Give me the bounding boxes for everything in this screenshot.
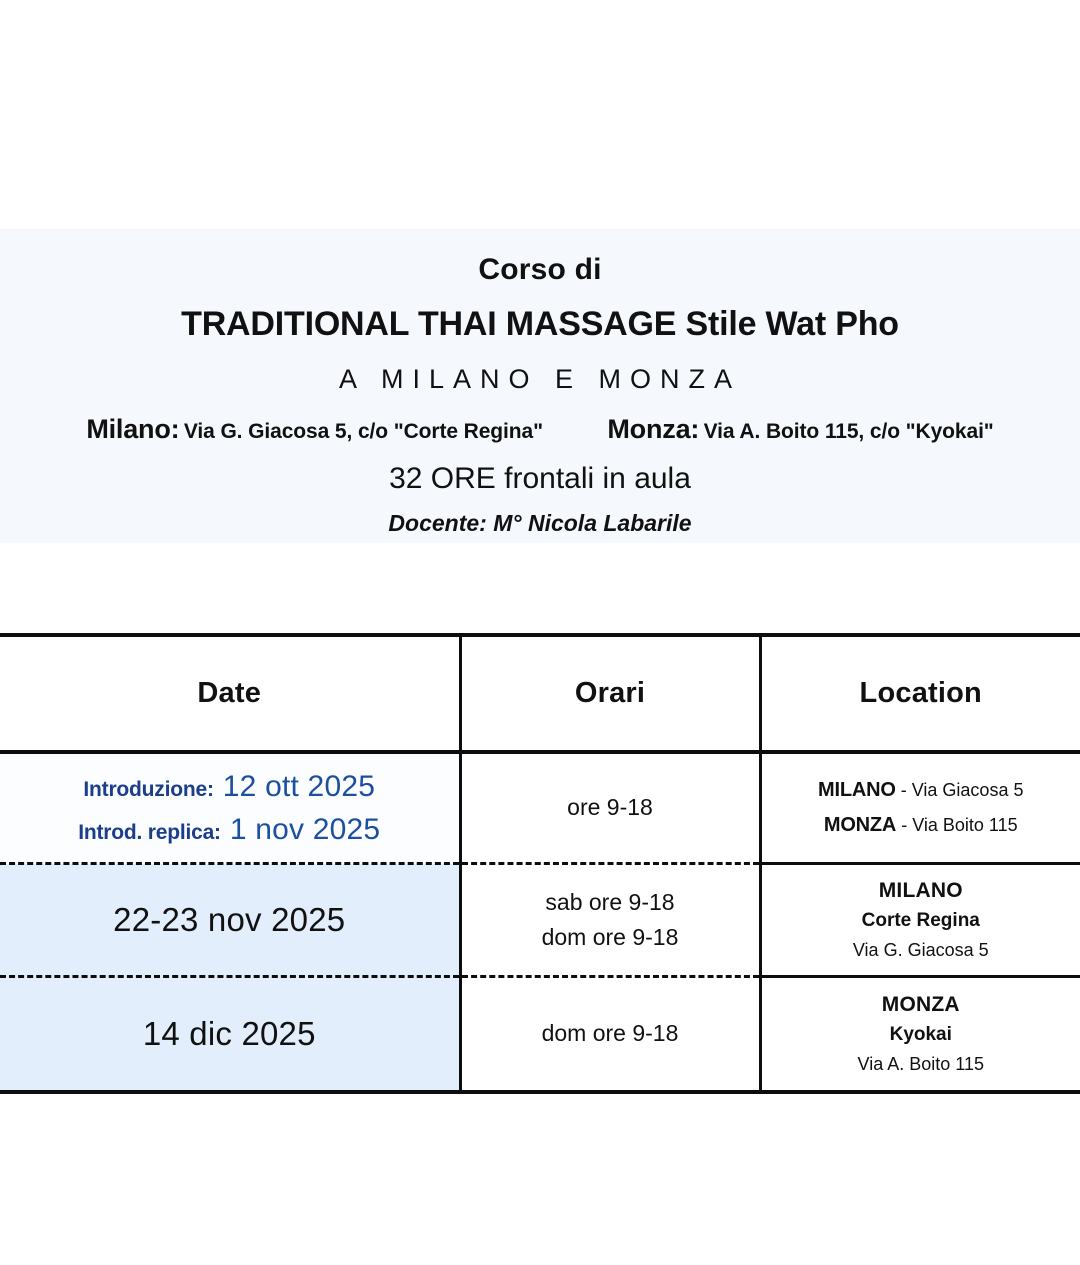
- banner-hours-line: 32 ORE frontali in aula: [14, 461, 1066, 497]
- location-venue: Corte Regina: [762, 911, 1080, 932]
- table-row: 14 dic 2025 dom ore 9-18 MONZA Kyokai Vi…: [0, 977, 1080, 1093]
- cell-date-intro: Introduzione:12 ott 2025 Introd. replica…: [0, 752, 460, 864]
- location-address: - Via Giacosa 5: [901, 780, 1024, 800]
- intro-date-1: 12 ott 2025: [223, 770, 375, 803]
- location-city: MILANO: [762, 879, 1080, 902]
- intro-line-1: Introduzione:12 ott 2025: [0, 771, 459, 803]
- location-city: MONZA: [762, 993, 1080, 1016]
- intro-date-2: 1 nov 2025: [230, 813, 380, 846]
- intro-line-2: Introd. replica:1 nov 2025: [0, 814, 459, 846]
- cell-date-2: 22-23 nov 2025: [0, 864, 460, 977]
- location-city: MONZA: [824, 814, 896, 836]
- course-banner: Corso di TRADITIONAL THAI MASSAGE Stile …: [0, 229, 1080, 543]
- orari-line: sab ore 9-18: [462, 890, 759, 915]
- banner-course-title: TRADITIONAL THAI MASSAGE Stile Wat Pho: [14, 304, 1066, 345]
- location-venue: Kyokai: [762, 1025, 1080, 1046]
- column-header-orari: Orari: [460, 635, 760, 752]
- table-header-row: Date Orari Location: [0, 635, 1080, 752]
- intro-label-2: Introd. replica:: [78, 821, 221, 844]
- banner-milano-group: Milano: Via G. Giacosa 5, c/o "Corte Reg…: [86, 413, 543, 445]
- location-street: Via G. Giacosa 5: [762, 941, 1080, 961]
- banner-milano-label: Milano:: [86, 414, 179, 444]
- orari-line: ore 9-18: [462, 795, 759, 820]
- banner-monza-address: Via A. Boito 115, c/o "Kyokai": [704, 420, 994, 443]
- banner-cities-line: A MILANO E MONZA: [14, 363, 1066, 395]
- location-line-2: MONZA - Via Boito 115: [762, 814, 1080, 837]
- cell-orari-1: ore 9-18: [460, 752, 760, 864]
- column-header-date: Date: [0, 635, 460, 752]
- date-value: 22-23 nov 2025: [0, 902, 459, 938]
- location-city: MILANO: [818, 779, 896, 801]
- date-value: 14 dic 2025: [0, 1016, 459, 1052]
- orari-line: dom ore 9-18: [462, 925, 759, 950]
- table-row: Introduzione:12 ott 2025 Introd. replica…: [0, 752, 1080, 864]
- cell-location-3: MONZA Kyokai Via A. Boito 115: [760, 977, 1080, 1093]
- banner-milano-address: Via G. Giacosa 5, c/o "Corte Regina": [184, 420, 543, 443]
- banner-line-corso: Corso di: [14, 253, 1066, 288]
- cell-date-3: 14 dic 2025: [0, 977, 460, 1093]
- location-street: Via A. Boito 115: [762, 1055, 1080, 1075]
- location-line-1: MILANO - Via Giacosa 5: [762, 779, 1080, 802]
- cell-orari-2: sab ore 9-18 dom ore 9-18: [460, 864, 760, 977]
- cell-orari-3: dom ore 9-18: [460, 977, 760, 1093]
- banner-teacher-line: Docente: M° Nicola Labarile: [14, 510, 1066, 538]
- column-header-location: Location: [760, 635, 1080, 752]
- cell-location-1: MILANO - Via Giacosa 5 MONZA - Via Boito…: [760, 752, 1080, 864]
- banner-monza-label: Monza:: [607, 414, 699, 444]
- table-row: 22-23 nov 2025 sab ore 9-18 dom ore 9-18…: [0, 864, 1080, 977]
- banner-monza-group: Monza: Via A. Boito 115, c/o "Kyokai": [607, 413, 993, 445]
- cell-location-2: MILANO Corte Regina Via G. Giacosa 5: [760, 864, 1080, 977]
- intro-label-1: Introduzione:: [83, 778, 213, 801]
- location-address: - Via Boito 115: [901, 815, 1017, 835]
- orari-line: dom ore 9-18: [462, 1021, 759, 1046]
- schedule-table: Date Orari Location Introduzione:12 ott …: [0, 633, 1080, 1094]
- banner-addresses-line: Milano: Via G. Giacosa 5, c/o "Corte Reg…: [14, 413, 1066, 445]
